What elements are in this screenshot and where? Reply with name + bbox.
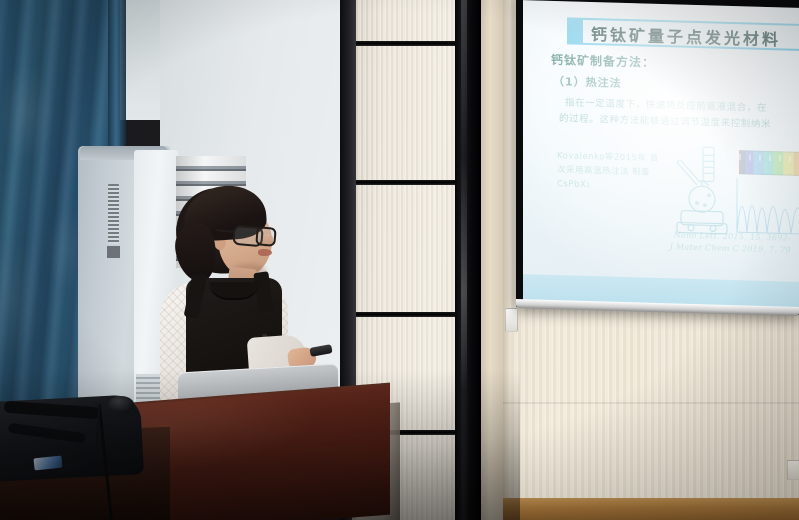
panel-wood-right-edge xyxy=(481,0,503,520)
wall-outlet-plate xyxy=(787,460,799,480)
ac-label-sticker xyxy=(108,184,119,244)
projection-screen: 钙钛矿量子点发光材料 钙钛矿制备方法： （1）热注法 指在一定温度下，快速将反应… xyxy=(523,0,799,308)
slide-heading: 钙钛矿制备方法： xyxy=(551,51,655,71)
wooden-baseboard xyxy=(503,498,799,520)
right-wall-seam xyxy=(503,402,799,404)
panel-black-vertical-strip xyxy=(455,0,481,520)
pl-emission-curves-figure xyxy=(735,174,799,239)
glasses-lens-right xyxy=(255,226,277,247)
mouth xyxy=(258,249,272,256)
flask-apparatus-icon xyxy=(669,144,731,242)
slide-citation-2: J Mater Chem C 2019, 7, 79 xyxy=(670,242,791,254)
slide-title: 钙钛矿量子点发光材料 xyxy=(591,21,799,52)
slide-subheading: （1）热注法 xyxy=(553,73,622,91)
slide-side-note: Kovalenko等2015年 首次采用高温热注法 制备CsPbX₃ xyxy=(557,149,667,194)
computer-mouse xyxy=(108,396,134,413)
ac-label-block xyxy=(107,246,120,258)
screenshot-scene: 钙钛矿量子点发光材料 钙钛矿制备方法： （1）热注法 指在一定温度下，快速将反应… xyxy=(0,0,799,520)
wall-sensor-icon xyxy=(505,308,518,332)
right-wall-edge xyxy=(503,0,511,520)
